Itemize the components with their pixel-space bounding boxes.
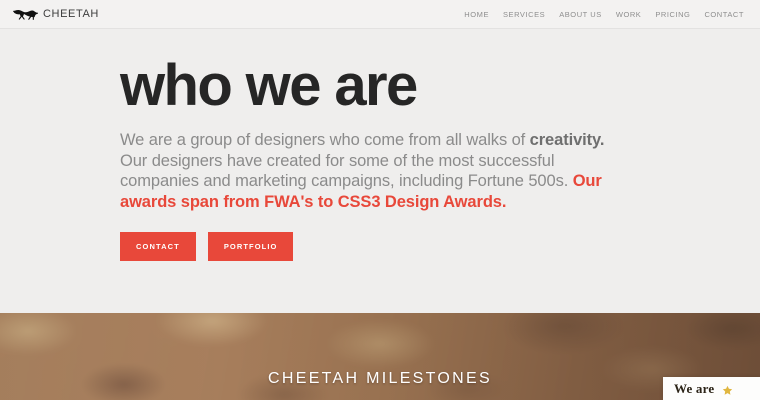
milestones-section: CHEETAH MILESTONES — [0, 313, 760, 400]
portfolio-button[interactable]: PORTFOLIO — [208, 232, 294, 261]
award-badge-icon — [722, 383, 733, 394]
main-nav: HOME SERVICES ABOUT US WORK PRICING CONT… — [464, 0, 744, 29]
brand-logo-link[interactable]: CHEETAH — [13, 6, 99, 22]
hero-paragraph: We are a group of designers who come fro… — [120, 130, 632, 212]
hero-actions: CONTACT PORTFOLIO — [120, 232, 660, 261]
nav-item-pricing[interactable]: PRICING — [655, 11, 690, 19]
nav-item-home[interactable]: HOME — [464, 11, 489, 19]
hero-paragraph-part2: Our designers have created for some of t… — [120, 152, 573, 191]
hero-content: who we are We are a group of designers w… — [120, 56, 660, 261]
hero-section: who we are We are a group of designers w… — [0, 29, 760, 313]
hero-paragraph-part1: We are a group of designers who come fro… — [120, 131, 530, 149]
promo-card[interactable]: We are — [663, 377, 760, 400]
contact-button[interactable]: CONTACT — [120, 232, 196, 261]
nav-item-work[interactable]: WORK — [616, 11, 642, 19]
milestones-heading: CHEETAH MILESTONES — [0, 370, 760, 388]
page-title: who we are — [120, 56, 660, 115]
site-header: CHEETAH HOME SERVICES ABOUT US WORK PRIC… — [0, 0, 760, 29]
nav-item-services[interactable]: SERVICES — [503, 11, 545, 19]
brand-name: CHEETAH — [43, 9, 99, 20]
nav-item-about-us[interactable]: ABOUT US — [559, 11, 602, 19]
promo-card-title: We are — [674, 381, 714, 397]
cheetah-running-icon — [13, 6, 39, 22]
page-root: CHEETAH HOME SERVICES ABOUT US WORK PRIC… — [0, 0, 760, 400]
nav-item-contact[interactable]: CONTACT — [704, 11, 744, 19]
hero-paragraph-emphasis-creativity: creativity. — [530, 131, 605, 149]
